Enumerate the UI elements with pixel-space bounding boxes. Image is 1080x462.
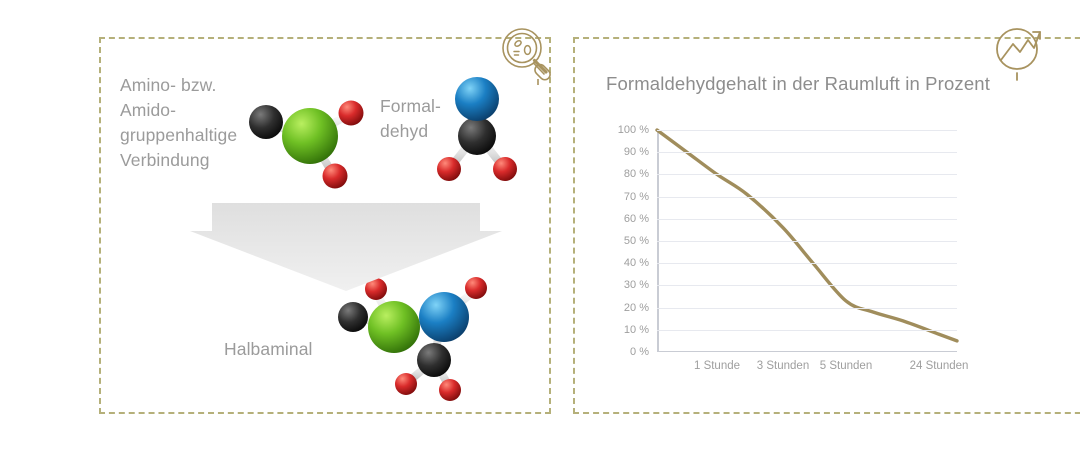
gridline	[657, 174, 957, 175]
y-axis-tick-label: 0 %	[601, 346, 649, 358]
gridline	[657, 152, 957, 153]
chart-title: Formaldehydgehalt in der Raumluft in Pro…	[606, 73, 990, 95]
x-axis-tick-label: 3 Stunden	[757, 360, 809, 372]
gridline	[657, 285, 957, 286]
x-axis-tick-label: 5 Stunden	[820, 360, 872, 372]
formaldehyde-molecule	[432, 72, 522, 187]
y-axis-tick-label: 80 %	[601, 168, 649, 180]
infographic-canvas: Amino- bzw. Amido- gruppenhaltige Verbin…	[0, 0, 1080, 462]
y-axis-tick-label: 20 %	[601, 302, 649, 314]
gridline	[657, 241, 957, 242]
x-axis-tick-label: 24 Stunden	[910, 360, 969, 372]
amino-compound-molecule	[238, 84, 373, 194]
down-arrow	[190, 203, 502, 291]
line-chart: 100 %90 %80 %70 %60 %50 %40 %30 %20 %10 …	[601, 122, 1021, 382]
x-axis-tick-label: 1 Stunde	[694, 360, 740, 372]
y-axis-tick-label: 60 %	[601, 213, 649, 225]
gridline	[657, 308, 957, 309]
magnifier-germs-icon	[497, 24, 559, 86]
y-axis-tick-label: 70 %	[601, 191, 649, 203]
y-axis-tick-label: 10 %	[601, 324, 649, 336]
y-axis-tick-label: 90 %	[601, 146, 649, 158]
gridline	[657, 330, 957, 331]
plot-area	[657, 130, 957, 352]
gridline	[657, 219, 957, 220]
y-axis-tick-label: 40 %	[601, 257, 649, 269]
y-axis-tick-label: 100 %	[601, 124, 649, 136]
gridline	[657, 197, 957, 198]
gridline	[657, 263, 957, 264]
y-axis-tick-label: 30 %	[601, 279, 649, 291]
halbaminal-molecule	[326, 272, 506, 407]
y-axis-tick-label: 50 %	[601, 235, 649, 247]
trend-chart-circle-icon	[988, 22, 1050, 84]
gridline	[657, 130, 957, 131]
